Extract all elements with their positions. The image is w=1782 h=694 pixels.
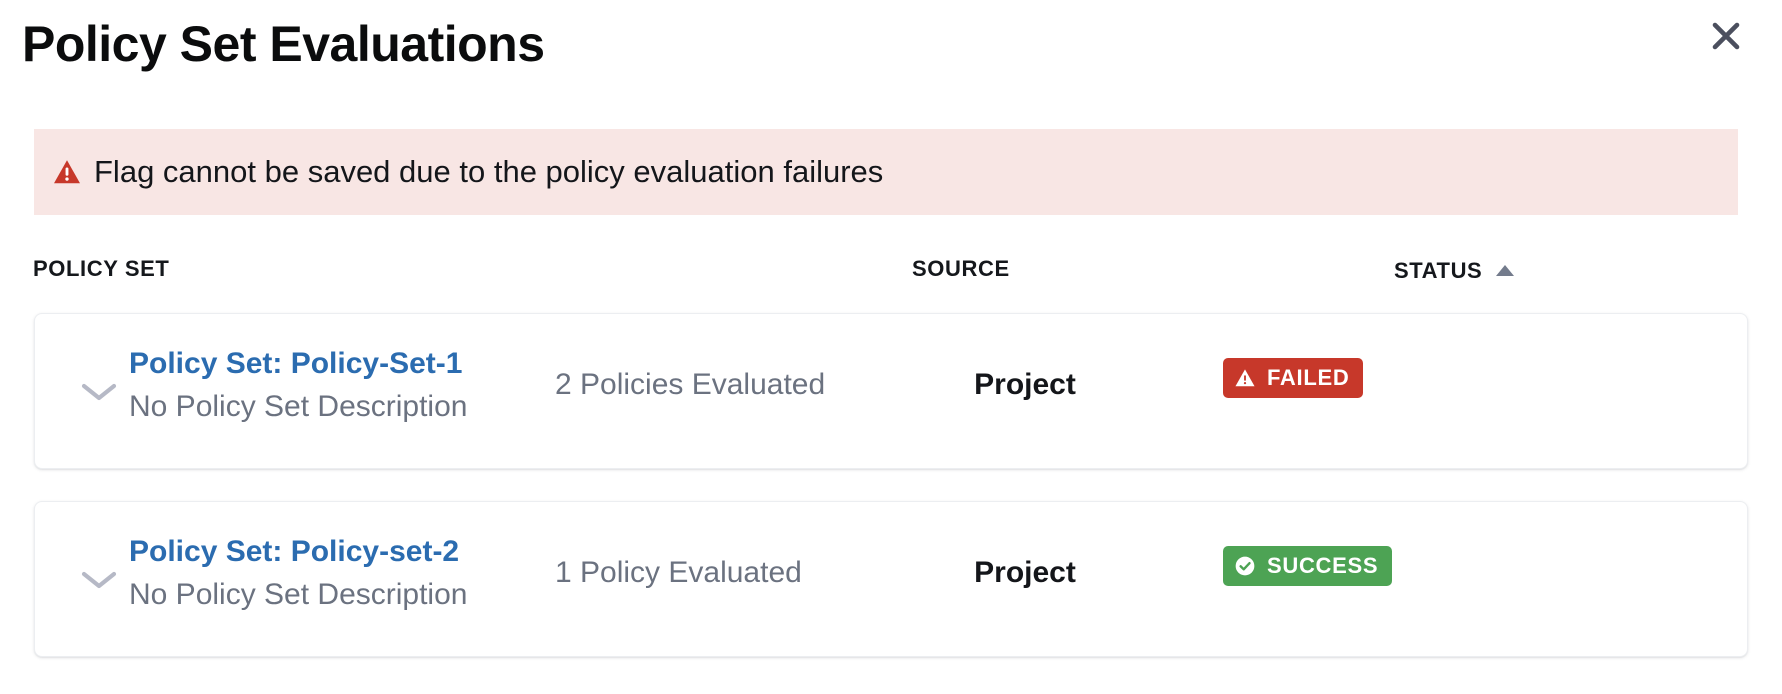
column-header-status[interactable]: STATUS [1394,257,1514,285]
column-header-policy-set[interactable]: POLICY SET [33,255,169,283]
check-circle-icon [1234,555,1256,577]
policy-set-list: Policy Set: Policy-Set-1 No Policy Set D… [0,313,1782,689]
table-row[interactable]: Policy Set: Policy-Set-1 No Policy Set D… [34,313,1748,469]
modal-header: Policy Set Evaluations [0,0,1782,112]
column-header-status-label: STATUS [1394,257,1482,285]
column-header-source-label: SOURCE [912,255,1010,283]
close-icon [1708,18,1744,54]
policies-evaluated-count: 1 Policy Evaluated [555,552,802,594]
policy-set-link[interactable]: Policy Set: Policy-set-2 [129,531,569,573]
policy-set-description: No Policy Set Description [129,385,569,429]
close-button[interactable] [1700,10,1752,62]
status-badge: FAILED [1223,358,1363,398]
error-alert-banner: Flag cannot be saved due to the policy e… [34,129,1738,215]
status-cell: FAILED [1215,358,1635,398]
policy-set-cell: Policy Set: Policy-set-2 No Policy Set D… [129,531,569,617]
policies-evaluated-count: 2 Policies Evaluated [555,364,825,406]
chevron-down-icon[interactable] [77,370,121,414]
status-cell: SUCCESS [1215,546,1635,586]
page-title: Policy Set Evaluations [22,12,545,76]
warning-triangle-icon [1234,367,1256,389]
policy-set-description: No Policy Set Description [129,573,569,617]
column-header-policy-set-label: POLICY SET [33,255,169,283]
status-badge-label: SUCCESS [1267,553,1378,579]
chevron-down-icon[interactable] [77,558,121,602]
policy-set-evaluations-modal: Policy Set Evaluations Flag cannot be sa… [0,0,1782,694]
source-cell: Project [915,364,1135,406]
warning-triangle-icon [52,157,82,187]
column-header-source[interactable]: SOURCE [912,255,1010,283]
source-cell: Project [915,552,1135,594]
status-badge-label: FAILED [1267,365,1349,391]
table-header-row: POLICY SET SOURCE STATUS [0,248,1782,288]
policy-set-cell: Policy Set: Policy-Set-1 No Policy Set D… [129,343,569,429]
alert-message: Flag cannot be saved due to the policy e… [94,154,883,190]
policy-set-link[interactable]: Policy Set: Policy-Set-1 [129,343,569,385]
table-row[interactable]: Policy Set: Policy-set-2 No Policy Set D… [34,501,1748,657]
status-badge: SUCCESS [1223,546,1392,586]
sort-ascending-icon [1496,265,1514,276]
